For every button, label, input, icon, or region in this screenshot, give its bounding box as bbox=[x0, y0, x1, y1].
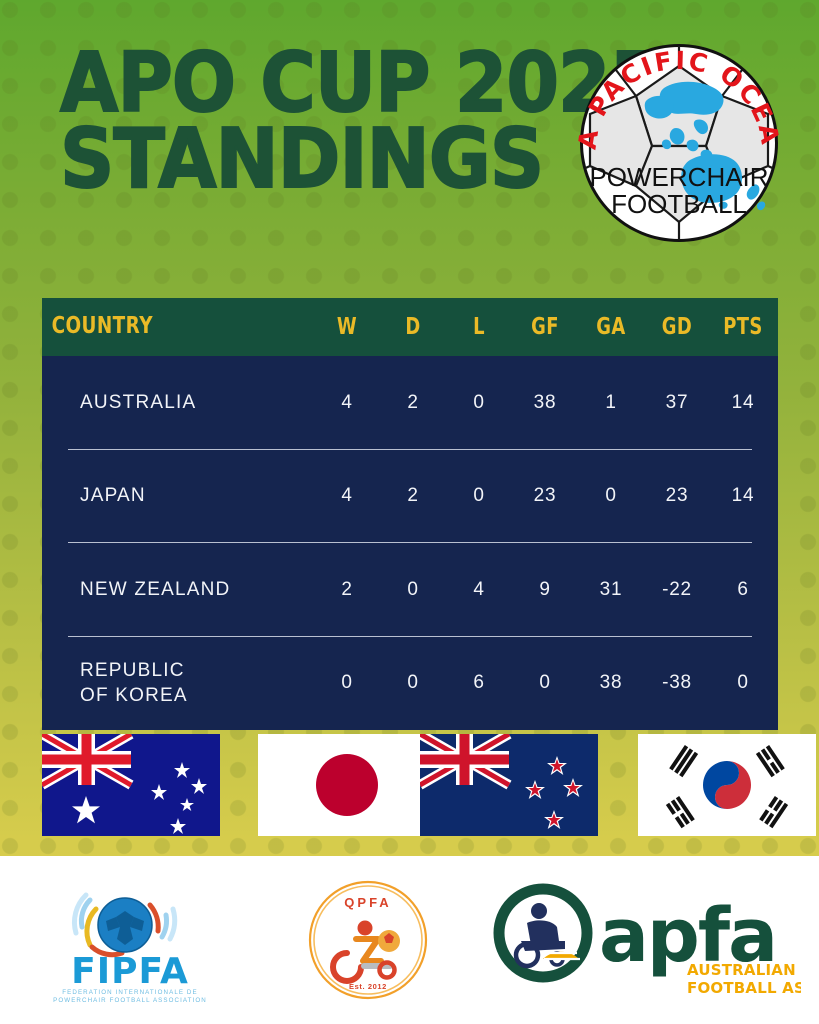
poster-root: APO CUP 2025 STANDINGS bbox=[0, 0, 819, 1024]
apo-logo-line2: FOOTBALL bbox=[611, 189, 747, 219]
cell-country: NEW ZEALAND bbox=[42, 577, 314, 603]
column-header-ga: GA bbox=[585, 314, 636, 340]
sponsor-footer: FIPFA FEDERATION INTERNATIONALE DE POWER… bbox=[0, 856, 819, 1024]
cell-d: 0 bbox=[380, 672, 446, 694]
fipfa-wordmark: FIPFA bbox=[71, 951, 189, 992]
table-row: AUSTRALIA4203813714 bbox=[42, 356, 778, 450]
cell-w: 4 bbox=[314, 485, 380, 507]
cell-gf: 23 bbox=[512, 485, 578, 507]
apfa-logo: apfa AUSTRALIAN POWERCHAIR FOOTBALL ASSO… bbox=[486, 856, 806, 1024]
cell-d: 2 bbox=[380, 485, 446, 507]
cell-ga: 0 bbox=[578, 485, 644, 507]
column-header-pts: PTS bbox=[717, 314, 768, 340]
cell-w: 4 bbox=[314, 392, 380, 414]
column-header-gd: GD bbox=[651, 314, 702, 340]
qpfa-established: Est. 2012 bbox=[349, 982, 387, 991]
cell-pts: 6 bbox=[710, 579, 776, 601]
cell-w: 0 bbox=[314, 672, 380, 694]
standings-table: COUNTRY W D L GF GA GD PTS AUSTRALIA4203… bbox=[42, 298, 778, 730]
qpfa-wordmark: QPFA bbox=[344, 895, 391, 910]
title-line-1: APO CUP 2025 bbox=[60, 46, 520, 122]
apo-logo-line1: POWERCHAIR bbox=[589, 162, 768, 192]
cell-gd: 23 bbox=[644, 485, 710, 507]
page-title: APO CUP 2025 STANDINGS bbox=[60, 46, 520, 199]
flags-strip bbox=[0, 734, 819, 844]
cell-l: 0 bbox=[446, 392, 512, 414]
cell-d: 2 bbox=[380, 392, 446, 414]
cell-gf: 9 bbox=[512, 579, 578, 601]
south-korea-flag bbox=[638, 734, 816, 836]
fipfa-tagline-2: POWERCHAIR FOOTBALL ASSOCIATION bbox=[53, 997, 207, 1004]
title-line-2: STANDINGS bbox=[60, 122, 520, 198]
new-zealand-flag bbox=[420, 734, 598, 836]
apfa-tagline-1: AUSTRALIAN POWERCHAIR bbox=[687, 961, 801, 979]
table-row: REPUBLICOF KOREA006038-380 bbox=[42, 637, 778, 731]
cell-gf: 0 bbox=[512, 672, 578, 694]
cell-gd: -22 bbox=[644, 579, 710, 601]
table-body: AUSTRALIA4203813714JAPAN4202302314NEW ZE… bbox=[42, 356, 778, 730]
cell-country: AUSTRALIA bbox=[42, 390, 314, 416]
cell-w: 2 bbox=[314, 579, 380, 601]
table-row: NEW ZEALAND204931-226 bbox=[42, 543, 778, 637]
cell-l: 4 bbox=[446, 579, 512, 601]
japan-flag bbox=[258, 734, 436, 836]
column-header-country: COUNTRY bbox=[42, 311, 260, 342]
cell-country: JAPAN bbox=[42, 483, 314, 509]
column-header-w: W bbox=[321, 314, 372, 340]
column-header-l: L bbox=[453, 314, 504, 340]
cell-gd: 37 bbox=[644, 392, 710, 414]
cell-gf: 38 bbox=[512, 392, 578, 414]
cell-ga: 31 bbox=[578, 579, 644, 601]
australia-flag bbox=[42, 734, 220, 836]
cell-gd: -38 bbox=[644, 672, 710, 694]
cell-ga: 38 bbox=[578, 672, 644, 694]
cell-pts: 14 bbox=[710, 485, 776, 507]
cell-pts: 14 bbox=[710, 392, 776, 414]
cell-pts: 0 bbox=[710, 672, 776, 694]
cell-ga: 1 bbox=[578, 392, 644, 414]
qpfa-logo: QPFA Est. 2012 bbox=[268, 856, 468, 1024]
cell-l: 6 bbox=[446, 672, 512, 694]
apo-powerchair-football-logo: ASIA PACIFIC OCEANIA POWERCHAIR FOOTBALL bbox=[572, 36, 786, 250]
column-header-d: D bbox=[387, 314, 438, 340]
cell-d: 0 bbox=[380, 579, 446, 601]
fipfa-tagline-1: FEDERATION INTERNATIONALE DE bbox=[62, 989, 197, 996]
fipfa-logo: FIPFA FEDERATION INTERNATIONALE DE POWER… bbox=[20, 856, 240, 1024]
column-header-gf: GF bbox=[519, 314, 570, 340]
cell-l: 0 bbox=[446, 485, 512, 507]
cell-country: REPUBLICOF KOREA bbox=[42, 658, 314, 709]
table-header-row: COUNTRY W D L GF GA GD PTS bbox=[42, 298, 778, 356]
apo-logo-svg: ASIA PACIFIC OCEANIA POWERCHAIR FOOTBALL bbox=[572, 36, 786, 250]
apfa-tagline-2: FOOTBALL ASSOCIATION bbox=[687, 979, 801, 997]
table-row: JAPAN4202302314 bbox=[42, 450, 778, 544]
